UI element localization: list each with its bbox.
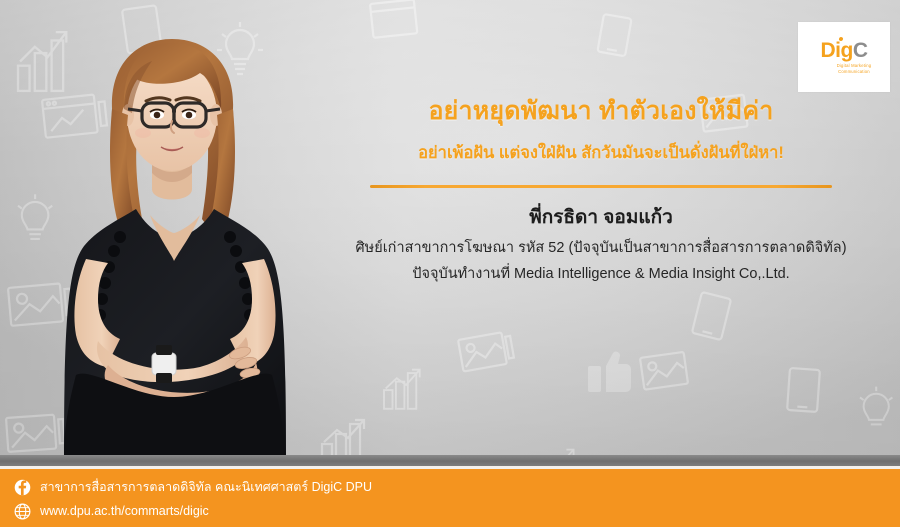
blush-left bbox=[135, 128, 151, 138]
digic-tagline-line-2: Communication bbox=[825, 69, 883, 74]
headline-text: อย่าหยุดพัฒนา ทำตัวเองให้มีค่า bbox=[318, 96, 884, 127]
globe-icon[interactable] bbox=[14, 503, 31, 520]
digic-letter-d: D bbox=[820, 39, 835, 62]
digic-letters-ig: ig bbox=[835, 39, 853, 62]
person-detail-line-2: ปัจจุบันทำงานที่ Media Intelligence & Me… bbox=[318, 264, 884, 285]
portrait-photo bbox=[24, 23, 334, 455]
digic-letter-c: C bbox=[853, 39, 868, 62]
gray-strip bbox=[0, 455, 900, 466]
footer-contact-rows: สาขาการสื่อสารการตลาดดิจิทัล คณะนิเทศศาส… bbox=[14, 475, 372, 523]
digic-wordmark: DigC bbox=[820, 40, 867, 61]
person-name: พี่กรธิดา จอมแก้ว bbox=[318, 206, 884, 231]
poster-canvas: อย่าหยุดพัฒนา ทำตัวเองให้มีค่า อย่าเพ้อฝ… bbox=[0, 0, 900, 527]
digic-logo: DigC Digital Marketing Communication bbox=[798, 22, 890, 92]
footer-facebook-text: สาขาการสื่อสารการตลาดดิจิทัล คณะนิเทศศาส… bbox=[40, 481, 372, 494]
subheadline-text: อย่าเพ้อฝัน แต่จงใฝ่ฝัน สักวันมันจะเป็นด… bbox=[318, 143, 884, 164]
footer-facebook-row[interactable]: สาขาการสื่อสารการตลาดดิจิทัล คณะนิเทศศาส… bbox=[14, 475, 372, 499]
orange-divider bbox=[370, 185, 832, 188]
footer-website-row[interactable]: www.dpu.ac.th/commarts/digic bbox=[14, 499, 372, 523]
facebook-icon[interactable] bbox=[14, 479, 31, 496]
footer-website-text: www.dpu.ac.th/commarts/digic bbox=[40, 505, 209, 518]
footer-bar: สาขาการสื่อสารการตลาดดิจิทัล คณะนิเทศศาส… bbox=[0, 469, 900, 527]
pupil-right bbox=[186, 112, 193, 119]
person-detail-line-1: ศิษย์เก่าสาขาการโฆษณา รหัส 52 (ปัจจุบันเ… bbox=[318, 238, 884, 259]
message-block: อย่าหยุดพัฒนา ทำตัวเองให้มีค่า อย่าเพ้อฝ… bbox=[318, 96, 884, 285]
blush-right bbox=[194, 128, 210, 138]
pupil-left bbox=[154, 112, 161, 119]
digic-tagline: Digital Marketing Communication bbox=[825, 63, 883, 74]
